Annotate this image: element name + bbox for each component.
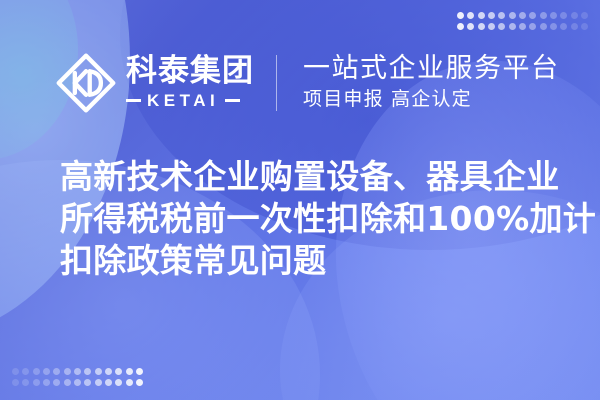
decorative-dot (105, 379, 112, 386)
brand-name-cn: 科泰集团 (126, 55, 254, 87)
decorative-dot (115, 368, 122, 375)
decorative-dot (126, 379, 133, 386)
decorative-dot (84, 368, 91, 375)
brand-rule-left-icon (126, 99, 141, 102)
decorative-dot (540, 23, 547, 30)
tagline-sub: 项目申报 高企认定 (303, 88, 560, 112)
decorative-dot (540, 12, 547, 19)
decorative-dot (64, 368, 71, 375)
brand-lockup: 科泰集团 KETAI (55, 52, 254, 114)
decorative-dot (95, 368, 102, 375)
decorative-dot (571, 23, 578, 30)
decorative-dot (22, 379, 29, 386)
decorative-dot (550, 23, 557, 30)
decorative-dot (12, 379, 19, 386)
decorative-dot (126, 368, 133, 375)
decorative-dot (43, 368, 50, 375)
tagline-block: 一站式企业服务平台 项目申报 高企认定 (303, 54, 560, 112)
decorative-dot (560, 12, 567, 19)
tagline-main: 一站式企业服务平台 (303, 54, 560, 84)
decorative-dot (478, 23, 485, 30)
decorative-dot (136, 379, 143, 386)
decorative-dot (519, 12, 526, 19)
dot-grid-top-right-icon (457, 12, 588, 30)
brand-name-en-row: KETAI (126, 91, 254, 111)
brand-rule-right-icon (225, 99, 240, 102)
decorative-dot (519, 23, 526, 30)
decorative-dot (53, 368, 60, 375)
decorative-dot (488, 12, 495, 19)
page-title: 高新技术企业购置设备、器具企业 所得税税前一次性扣除和100%加计 扣除政策常见… (60, 156, 560, 282)
decorative-dot (509, 12, 516, 19)
decorative-dot (53, 379, 60, 386)
title-line: 扣除政策常见问题 (60, 240, 560, 282)
decorative-dot (115, 379, 122, 386)
decorative-dot (95, 379, 102, 386)
decorative-dot (43, 379, 50, 386)
decorative-dot (33, 368, 40, 375)
ketai-diamond-monogram-icon (55, 52, 117, 114)
decorative-dot (581, 23, 588, 30)
decorative-dot (64, 379, 71, 386)
decorative-dot (74, 368, 81, 375)
decorative-dot (457, 12, 464, 19)
decorative-dot (84, 379, 91, 386)
decorative-dot (12, 368, 19, 375)
title-line: 高新技术企业购置设备、器具企业 (60, 156, 560, 198)
decorative-dot (467, 23, 474, 30)
decorative-dot (581, 12, 588, 19)
dot-grid-bottom-left-icon (12, 368, 143, 386)
decorative-dot (33, 379, 40, 386)
title-line: 所得税税前一次性扣除和100%加计 (60, 198, 560, 240)
decorative-dot (498, 12, 505, 19)
decorative-dot (498, 23, 505, 30)
decorative-dot (550, 12, 557, 19)
decorative-dot (571, 12, 578, 19)
brand-name-en: KETAI (141, 91, 225, 111)
decorative-dot (529, 23, 536, 30)
promo-banner: 科泰集团 KETAI 一站式企业服务平台 项目申报 高企认定 高新技术企业购置设… (0, 0, 600, 400)
decorative-dot (105, 368, 112, 375)
decorative-dot (74, 379, 81, 386)
brand-text-block: 科泰集团 KETAI (126, 55, 254, 110)
decorative-dot (136, 368, 143, 375)
decorative-dot (457, 23, 464, 30)
decorative-dot (529, 12, 536, 19)
decorative-dot (509, 23, 516, 30)
decorative-dot (488, 23, 495, 30)
banner-header: 科泰集团 KETAI 一站式企业服务平台 项目申报 高企认定 (0, 44, 600, 122)
decorative-dot (560, 23, 567, 30)
header-divider (276, 55, 277, 111)
decorative-dot (478, 12, 485, 19)
decorative-dot (22, 368, 29, 375)
decorative-dot (467, 12, 474, 19)
